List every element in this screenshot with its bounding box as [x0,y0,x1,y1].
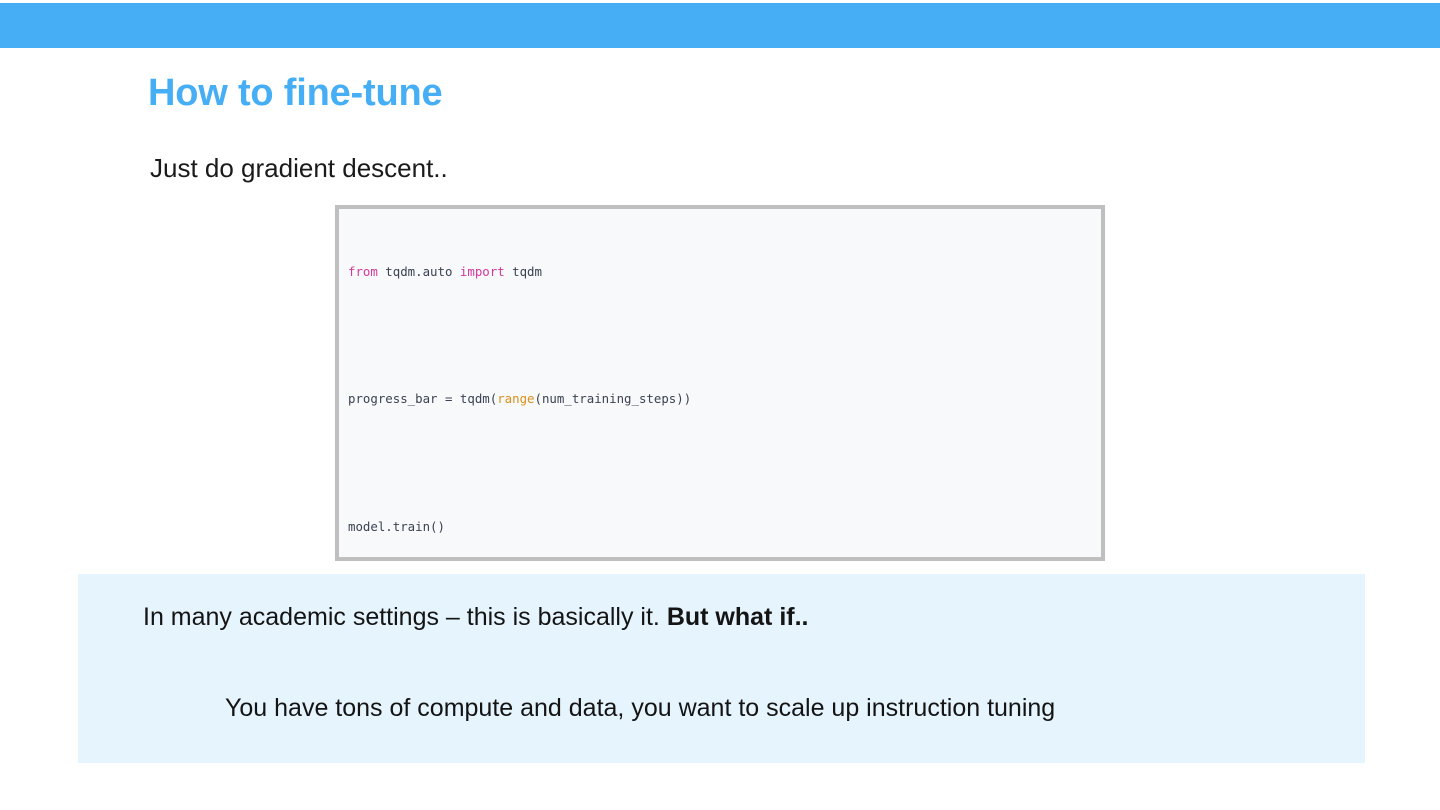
page-title: How to fine-tune [148,72,442,115]
callout-line-primary-plain: In many academic settings – this is basi… [143,603,667,631]
code-line [348,324,1101,345]
code-block: from tqdm.auto import tqdm progress_bar … [335,205,1105,561]
code-line: progress_bar = tqdm(range(num_training_s… [348,388,1101,409]
code-line: model.train() [348,516,1101,537]
slide-subtitle: Just do gradient descent.. [150,153,448,184]
code-line [348,452,1101,473]
callout-line-secondary: You have tons of compute and data, you w… [225,694,1055,723]
code-line: from tqdm.auto import tqdm [348,261,1101,282]
callout-line-primary: In many academic settings – this is basi… [143,603,808,632]
callout-line-primary-emphasis: But what if.. [667,603,809,631]
code-lines: from tqdm.auto import tqdm progress_bar … [348,218,1101,561]
callout-box: In many academic settings – this is basi… [78,574,1365,763]
top-accent-bar [0,3,1440,48]
